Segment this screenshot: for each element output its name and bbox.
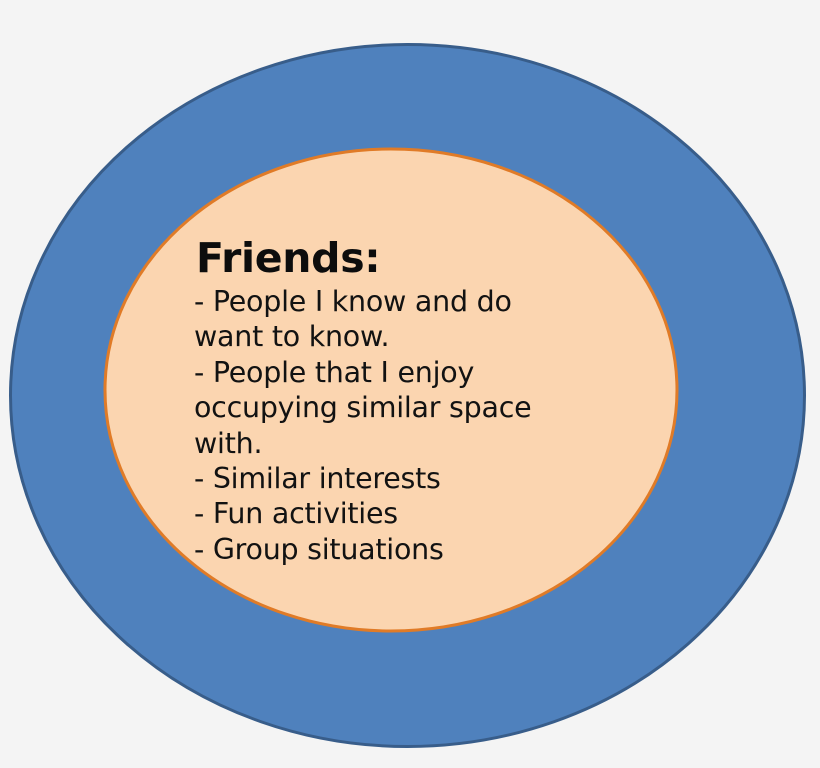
venn-diagram-graphic [0, 0, 820, 768]
inner-peach-ellipse-shape[interactable] [105, 149, 677, 631]
relationship-circles-diagram: Friends: - People I know and do want to … [0, 0, 820, 768]
